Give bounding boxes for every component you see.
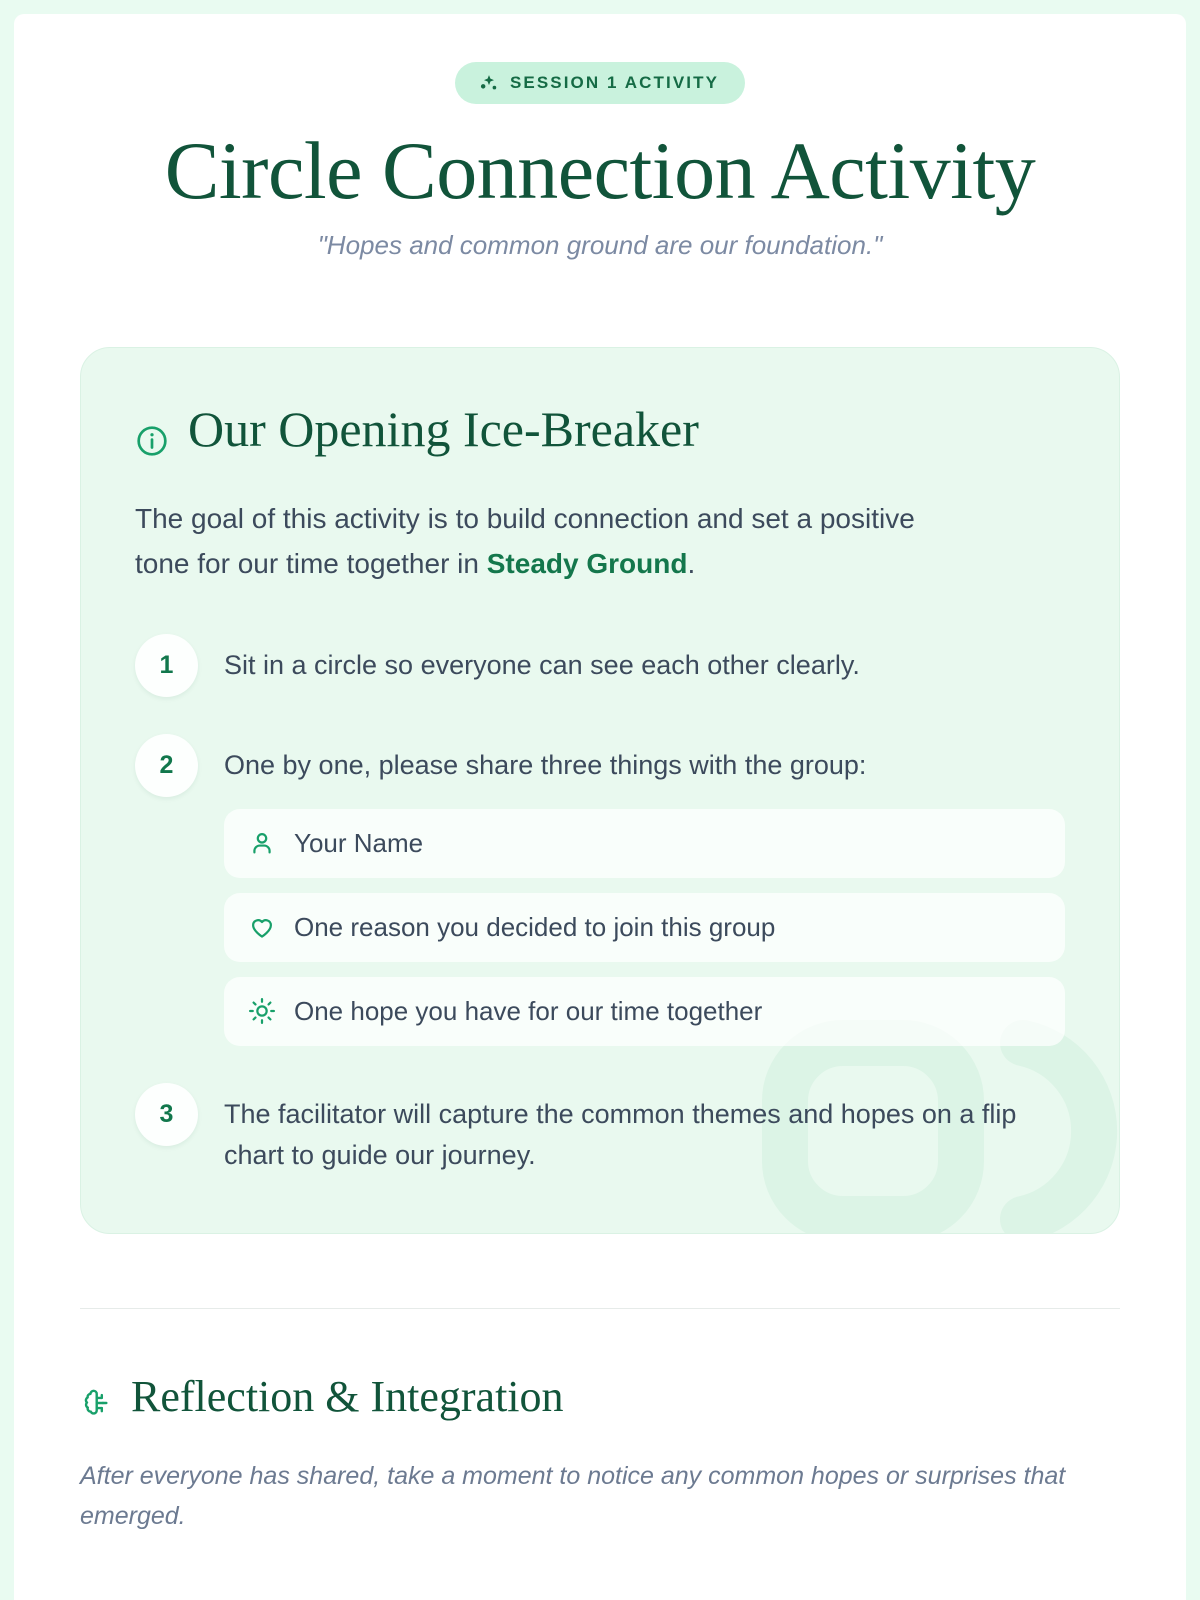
user-icon [248, 829, 276, 857]
step-item: 2 One by one, please share three things … [135, 733, 1065, 1046]
ice-breaker-card: Our Opening Ice-Breaker The goal of this… [80, 347, 1120, 1234]
card-title-row: Our Opening Ice-Breaker [135, 400, 1065, 458]
sun-icon [248, 997, 276, 1025]
field-reason-to-join[interactable]: One reason you decided to join this grou… [224, 893, 1065, 962]
step-item: 3 The facilitator will capture the commo… [135, 1082, 1065, 1178]
field-label: One hope you have for our time together [294, 996, 762, 1027]
page-panel: SESSION 1 ACTIVITY Circle Connection Act… [14, 14, 1186, 1600]
card-title-text: Our Opening Ice-Breaker [188, 400, 699, 458]
step-number-badge: 1 [135, 634, 198, 697]
reflection-title-row: Reflection & Integration [80, 1371, 1120, 1422]
share-fields-list: Your Name One reason you decided to join… [224, 809, 1065, 1046]
field-your-name[interactable]: Your Name [224, 809, 1065, 878]
step-item: 1 Sit in a circle so everyone can see ea… [135, 633, 1065, 697]
session-badge: SESSION 1 ACTIVITY [455, 62, 745, 104]
info-circle-icon [135, 412, 169, 446]
reflection-section: Reflection & Integration After everyone … [80, 1371, 1120, 1536]
brain-icon [80, 1380, 114, 1414]
field-label: One reason you decided to join this grou… [294, 912, 775, 943]
page-header: SESSION 1 ACTIVITY Circle Connection Act… [80, 62, 1120, 261]
steps-list: 1 Sit in a circle so everyone can see ea… [135, 633, 1065, 1178]
reflection-text: After everyone has shared, take a moment… [80, 1456, 1120, 1536]
field-hope[interactable]: One hope you have for our time together [224, 977, 1065, 1046]
step-number-badge: 3 [135, 1083, 198, 1146]
step-number-badge: 2 [135, 734, 198, 797]
heart-icon [248, 913, 276, 941]
card-lead-highlight: Steady Ground [487, 548, 688, 579]
card-lead-paragraph: The goal of this activity is to build co… [135, 496, 965, 587]
page-subtitle: "Hopes and common ground are our foundat… [80, 230, 1120, 261]
page-title: Circle Connection Activity [80, 130, 1120, 212]
reflection-title-text: Reflection & Integration [131, 1371, 564, 1422]
step-text: Sit in a circle so everyone can see each… [224, 645, 1065, 687]
section-divider [80, 1308, 1120, 1309]
field-label: Your Name [294, 828, 423, 859]
session-badge-label: SESSION 1 ACTIVITY [510, 73, 719, 93]
step-text: One by one, please share three things wi… [224, 745, 1065, 787]
card-lead-after: . [687, 548, 695, 579]
step-text: The facilitator will capture the common … [224, 1094, 1065, 1178]
sparkles-icon [479, 73, 499, 93]
